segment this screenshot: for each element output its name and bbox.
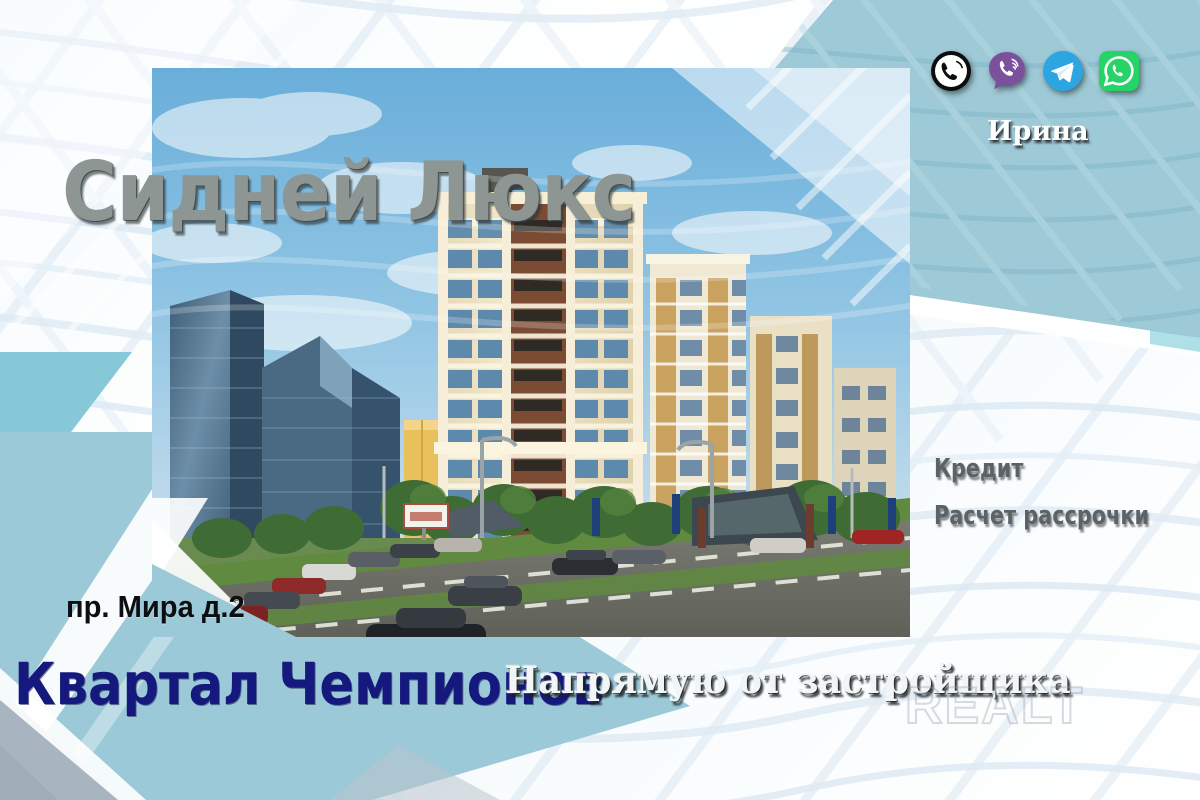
whatsapp-icon[interactable] xyxy=(1098,50,1140,92)
realt-watermark: REALT xyxy=(905,676,1084,736)
viber-icon[interactable] xyxy=(986,50,1028,92)
telegram-icon[interactable] xyxy=(1042,50,1084,92)
advertisement-poster: Сидней Люкс пр. Мира д.2 Квартал Чемпион… xyxy=(0,0,1200,800)
phone-icon[interactable] xyxy=(930,50,972,92)
contact-icons-row xyxy=(930,50,1140,92)
page-title: Сидней Люкс xyxy=(62,152,635,234)
street-address: пр. Мира д.2 xyxy=(66,591,245,622)
offer-credit-label: Кредит xyxy=(934,456,1023,482)
manager-name: Ирина xyxy=(987,118,1089,145)
offer-installment-label: Расчет рассрочки xyxy=(934,503,1149,529)
